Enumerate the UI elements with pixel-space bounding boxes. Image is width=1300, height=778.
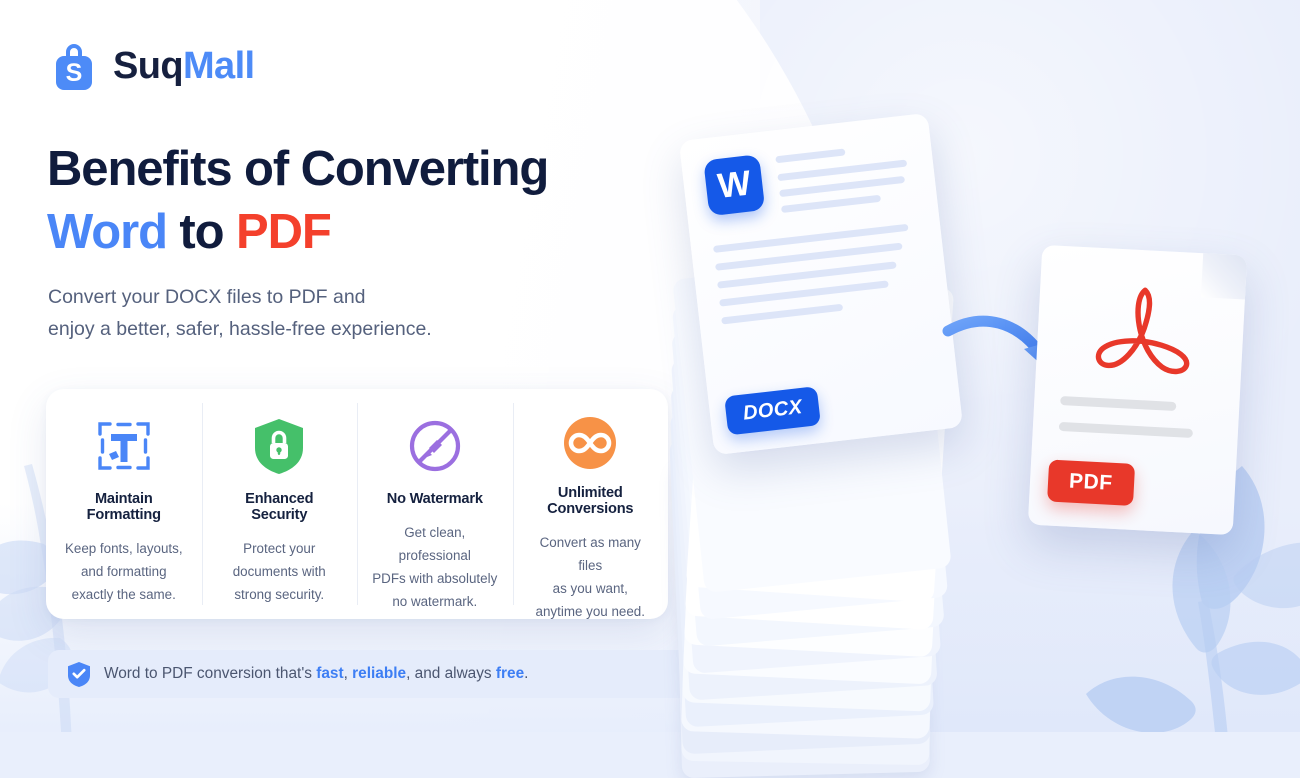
shield-lock-icon	[252, 415, 306, 477]
docx-badge: DOCX	[724, 386, 821, 435]
subtitle-line-2: enjoy a better, safer, hassle-free exper…	[48, 314, 432, 346]
feature-title: Unlimited Conversions	[527, 485, 655, 517]
brand-name-part1: Suq	[113, 45, 183, 87]
feature-description: Convert as many files as you want, anyti…	[527, 531, 655, 623]
feature-card-enhanced-security[interactable]: Enhanced Security Protect your documents…	[202, 389, 358, 619]
feature-description: Protect your documents with strong secur…	[233, 537, 326, 606]
banner-highlight-reliable: reliable	[352, 665, 406, 682]
word-badge: W	[703, 154, 765, 216]
trust-banner-text: Word to PDF conversion that's fast, reli…	[104, 665, 528, 683]
banner-text-part1: Word to PDF conversion that's	[104, 665, 316, 682]
banner-text-part4: .	[524, 665, 528, 682]
svg-text:S: S	[66, 59, 83, 87]
feature-desc-line-1: Get clean, professional	[371, 521, 499, 567]
feature-desc-line-3: exactly the same.	[65, 583, 183, 606]
feature-desc-line-1: Convert as many files	[527, 531, 655, 577]
brand-logo[interactable]: S SuqMall	[48, 40, 255, 92]
infinity-icon	[562, 415, 618, 471]
trust-banner: Word to PDF conversion that's fast, reli…	[48, 650, 693, 698]
feature-description: Keep fonts, layouts, and formatting exac…	[65, 537, 183, 606]
feature-desc-line-3: strong security.	[233, 583, 326, 606]
docx-document: W DOCX	[679, 113, 963, 455]
shield-check-icon	[67, 661, 91, 687]
banner-text-part3: , and always	[406, 665, 496, 682]
feature-desc-line-1: Keep fonts, layouts,	[65, 537, 183, 560]
brand-name: SuqMall	[113, 47, 255, 85]
feature-title: Maintain Formatting	[60, 491, 188, 523]
headline-line-1: Benefits of Converting	[47, 142, 548, 196]
feature-desc-line-2: and formatting	[65, 560, 183, 583]
no-watermark-icon	[407, 415, 463, 477]
headline-line-2: Word to PDF	[47, 201, 548, 264]
brand-name-part2: Mall	[183, 45, 255, 87]
page-subtitle: Convert your DOCX files to PDF and enjoy…	[48, 282, 432, 345]
feature-desc-line-2: documents with	[233, 560, 326, 583]
pdf-document: PDF	[1028, 245, 1247, 535]
subtitle-line-1: Convert your DOCX files to PDF and	[48, 282, 432, 314]
feature-desc-line-2: PDFs with absolutely	[371, 567, 499, 590]
conversion-illustration: W DOCX PDF	[640, 60, 1300, 660]
feature-desc-line-3: anytime you need.	[527, 600, 655, 623]
feature-card-no-watermark[interactable]: No Watermark Get clean, professional PDF…	[357, 389, 513, 619]
text-formatting-icon	[96, 415, 152, 477]
headline-word-pdf: PDF	[236, 205, 331, 259]
headline-word-to: to	[167, 205, 236, 259]
feature-desc-line-3: no watermark.	[371, 590, 499, 613]
banner-highlight-fast: fast	[316, 665, 343, 682]
page-title: Benefits of Converting Word to PDF	[47, 138, 548, 263]
feature-title: No Watermark	[387, 491, 483, 507]
page-fold-corner	[1201, 253, 1247, 299]
headline-word-word: Word	[47, 205, 167, 259]
shopping-bag-icon: S	[48, 40, 100, 92]
feature-description: Get clean, professional PDFs with absolu…	[371, 521, 499, 613]
feature-card-maintain-formatting[interactable]: Maintain Formatting Keep fonts, layouts,…	[46, 389, 202, 619]
banner-text-part2: ,	[344, 665, 353, 682]
pdf-badge: PDF	[1047, 459, 1135, 505]
feature-desc-line-1: Protect your	[233, 537, 326, 560]
feature-title: Enhanced Security	[216, 491, 344, 523]
adobe-acrobat-a-icon	[1081, 279, 1204, 385]
banner-highlight-free: free	[496, 665, 524, 682]
feature-desc-line-2: as you want,	[527, 577, 655, 600]
feature-card-panel: Maintain Formatting Keep fonts, layouts,…	[46, 389, 668, 619]
